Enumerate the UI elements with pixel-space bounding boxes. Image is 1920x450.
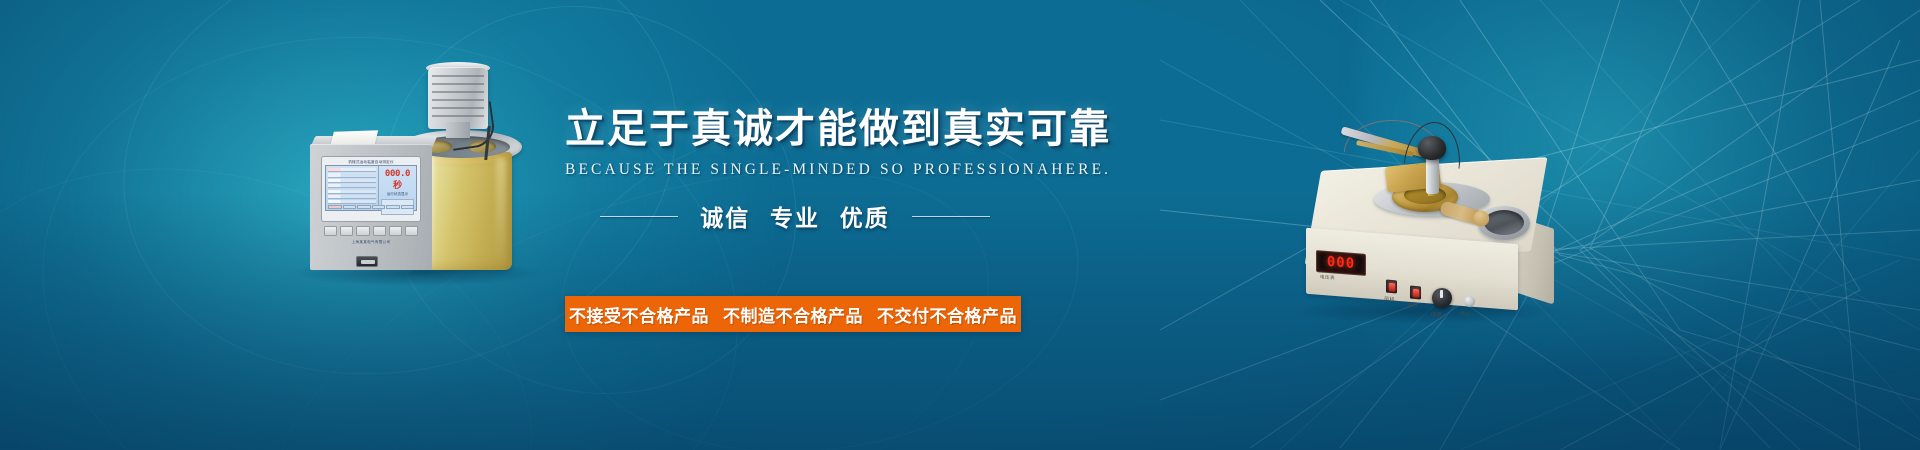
console-brand-label: 上海某某电气有限公司 xyxy=(324,240,418,245)
keyword-quality: 优质 xyxy=(840,206,890,231)
lcd-unit: 秒 xyxy=(393,181,402,191)
slogan-segment-1: 不接受不合格产品 xyxy=(569,307,709,326)
switch-heater[interactable] xyxy=(1410,286,1421,300)
lcd-button-row[interactable] xyxy=(326,205,416,209)
stirrer-knob[interactable] xyxy=(1418,136,1446,160)
temperature-knob[interactable] xyxy=(1432,288,1452,308)
label-heater: 加热 xyxy=(1407,302,1418,310)
keyword-professional: 专业 xyxy=(770,206,820,231)
sample-well-inner xyxy=(1484,210,1524,235)
promo-banner: 机械式运动粘度自动测定仪 000.0秒 运行状态显示 xyxy=(0,0,1920,450)
quality-slogan-bar: 不接受不合格产品不制造不合格产品不交付不合格产品 xyxy=(565,296,1021,332)
banner-subheadline: BECAUSE THE SINGLE-MINDED SO PROFESSIONA… xyxy=(565,161,1025,179)
console-screen: 机械式运动粘度自动测定仪 000.0秒 运行状态显示 xyxy=(321,156,421,222)
slogan-segment-2: 不制造不合格产品 xyxy=(723,307,863,326)
banner-keyword-row: 诚信 专业 优质 xyxy=(565,199,1025,233)
label-ignition: 点火 xyxy=(1460,310,1471,318)
lcd-caption: 运行状态显示 xyxy=(381,192,414,197)
instrument-flash-point-tester: 000 电压表 风机 加热 控温 点火 xyxy=(1300,120,1560,330)
label-temperature: 控温 xyxy=(1431,311,1442,319)
quality-slogan-text: 不接受不合格产品不制造不合格产品不交付不合格产品 xyxy=(562,302,1024,327)
banner-keywords: 诚信 专业 优质 xyxy=(694,199,896,233)
divider-rule-right xyxy=(912,216,990,217)
instrument-viscometer: 机械式运动粘度自动测定仪 000.0秒 运行状态显示 xyxy=(300,60,540,290)
power-switch[interactable] xyxy=(356,256,378,267)
banner-copy: 立足于真诚才能做到真实可靠 BECAUSE THE SINGLE-MINDED … xyxy=(565,105,1025,233)
console-keypad[interactable] xyxy=(324,226,418,236)
label-fan: 风机 xyxy=(1384,296,1395,304)
slogan-segment-3: 不交付不合格产品 xyxy=(877,307,1017,326)
switch-fan[interactable] xyxy=(1386,280,1397,294)
divider-rule-left xyxy=(600,216,678,217)
lcd-value: 000.0 xyxy=(385,169,410,179)
led-voltage-display: 000 xyxy=(1316,250,1366,276)
led-value: 000 xyxy=(1327,254,1355,272)
ignition-button[interactable] xyxy=(1464,296,1475,307)
banner-headline: 立足于真诚才能做到真实可靠 xyxy=(565,105,1025,152)
keyword-integrity: 诚信 xyxy=(700,206,750,231)
lcd-display: 000.0秒 运行状态显示 xyxy=(325,165,417,211)
lcd-table xyxy=(326,166,378,210)
lcd-readout: 000.0秒 运行状态显示 xyxy=(378,166,416,210)
